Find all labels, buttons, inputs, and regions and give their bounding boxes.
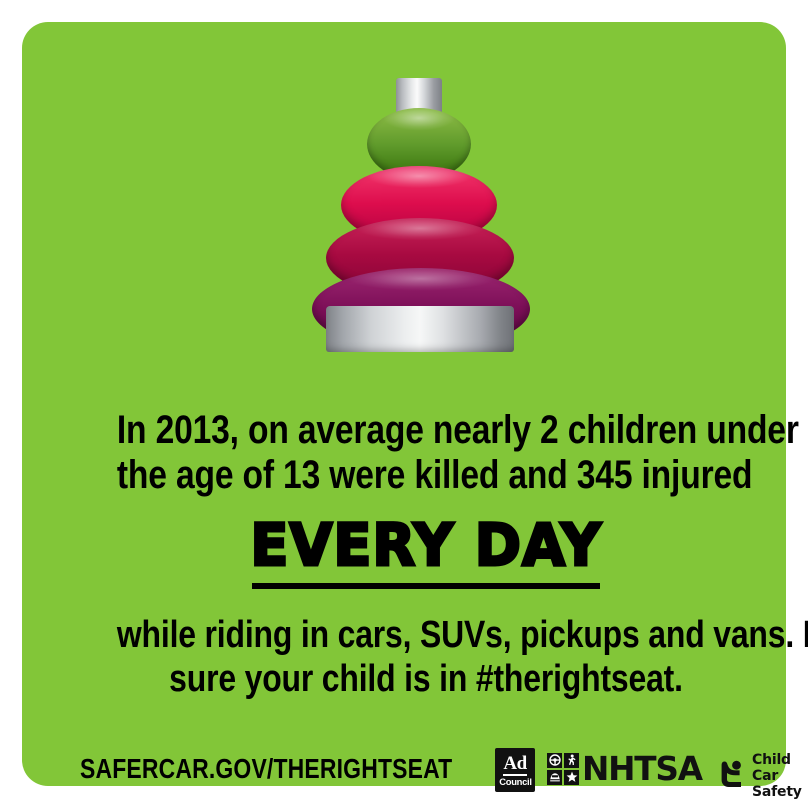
toy-base [326, 306, 514, 352]
ad-council-logo[interactable]: Ad Council [495, 748, 535, 792]
green-card: In 2013, on average nearly 2 children un… [22, 22, 786, 786]
child-car-safety-logo[interactable]: Child Car Safety [720, 752, 808, 800]
ad-council-council-text: Council [499, 778, 531, 787]
message-copy: In 2013, on average nearly 2 children un… [58, 408, 794, 701]
lead-line-2: the age of 13 were killed and 345 injure… [117, 453, 735, 498]
nhtsa-icon-grid [547, 753, 579, 785]
stacking-ring-toy [310, 78, 542, 358]
nhtsa-wordmark: NHTSA [582, 752, 702, 785]
footer: SAFERCAR.GOV/THERIGHTSEAT Ad Council [44, 736, 808, 808]
pedestrian-icon [564, 753, 579, 768]
safercar-url[interactable]: SAFERCAR.GOV/THERIGHTSEAT [80, 753, 452, 785]
poster-root: In 2013, on average nearly 2 children un… [0, 0, 808, 808]
emphasis-text: EVERY DAY [250, 516, 602, 574]
child-car-safety-wordmark: Child Car Safety [752, 752, 808, 800]
tail-line-1: while riding in cars, SUVs, pickups and … [117, 613, 735, 657]
car-front-icon [547, 770, 562, 785]
ad-council-ad-text: Ad [503, 754, 526, 776]
nhtsa-logo[interactable]: NHTSA [547, 752, 703, 785]
emphasis-underline [252, 583, 600, 589]
emphasis-block: EVERY DAY [58, 516, 794, 589]
lead-line-1: In 2013, on average nearly 2 children un… [117, 408, 735, 453]
ccs-line-2: Safety [752, 784, 802, 800]
star-icon [564, 770, 579, 785]
car-seat-icon [720, 759, 746, 794]
steering-wheel-icon [547, 753, 562, 768]
tail-line-2: sure your child is in #therightseat. [117, 657, 735, 701]
ccs-line-1: Child Car [752, 752, 791, 784]
